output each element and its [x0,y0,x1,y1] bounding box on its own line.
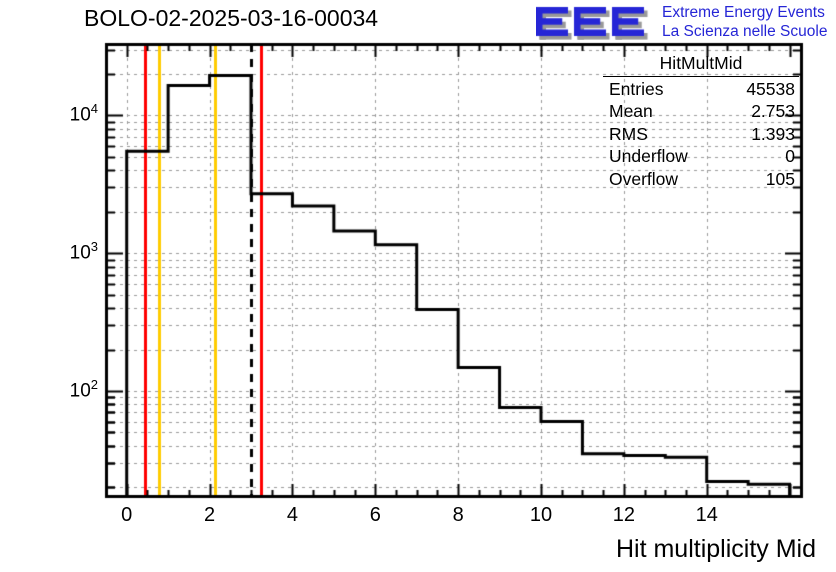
eee-logo: Extreme Energy Events La Scienza nelle S… [536,2,834,44]
stats-value-mean: 2.753 [751,100,795,123]
stats-row: Entries 45538 [603,78,799,101]
x-axis-tick-label: 2 [180,504,240,527]
stats-value-entries: 45538 [746,78,795,101]
stats-box: HitMultMid Entries 45538 Mean 2.753 RMS … [603,52,799,191]
stats-label-underflow: Underflow [609,145,688,168]
stats-value-rms: 1.393 [751,123,795,146]
stats-row: Underflow 0 [603,145,799,168]
x-axis-tick-label: 4 [262,504,322,527]
y-axis-tick-label: 104 [70,101,98,126]
page-title: BOLO-02-2025-03-16-00034 [84,5,378,32]
y-axis-tick-label: 102 [70,377,98,402]
x-axis-tick-label: 6 [345,504,405,527]
stats-label-entries: Entries [609,78,663,101]
stats-row: Overflow 105 [603,168,799,191]
x-axis-title: Hit multiplicity Mid [616,535,816,564]
stats-histogram-name: HitMultMid [603,52,799,77]
stats-label-mean: Mean [609,100,653,123]
x-axis-tick-label: 0 [97,504,157,527]
stats-value-underflow: 0 [785,145,795,168]
eee-logo-text: Extreme Energy Events La Scienza nelle S… [662,3,827,41]
stats-label-overflow: Overflow [609,168,678,191]
x-axis-tick-label: 8 [428,504,488,527]
stats-row: Mean 2.753 [603,100,799,123]
stats-row: RMS 1.393 [603,123,799,146]
stats-label-rms: RMS [609,123,648,146]
x-axis-tick-label: 14 [677,504,737,527]
eee-logo-line1: Extreme Energy Events [662,3,827,22]
x-axis-tick-label: 10 [511,504,571,527]
x-axis-tick-label: 12 [594,504,654,527]
eee-logo-line2: La Scienza nelle Scuole [662,22,827,41]
y-axis-tick-label: 103 [70,239,98,264]
stats-value-overflow: 105 [766,168,795,191]
eee-logo-mark-icon [536,4,656,40]
